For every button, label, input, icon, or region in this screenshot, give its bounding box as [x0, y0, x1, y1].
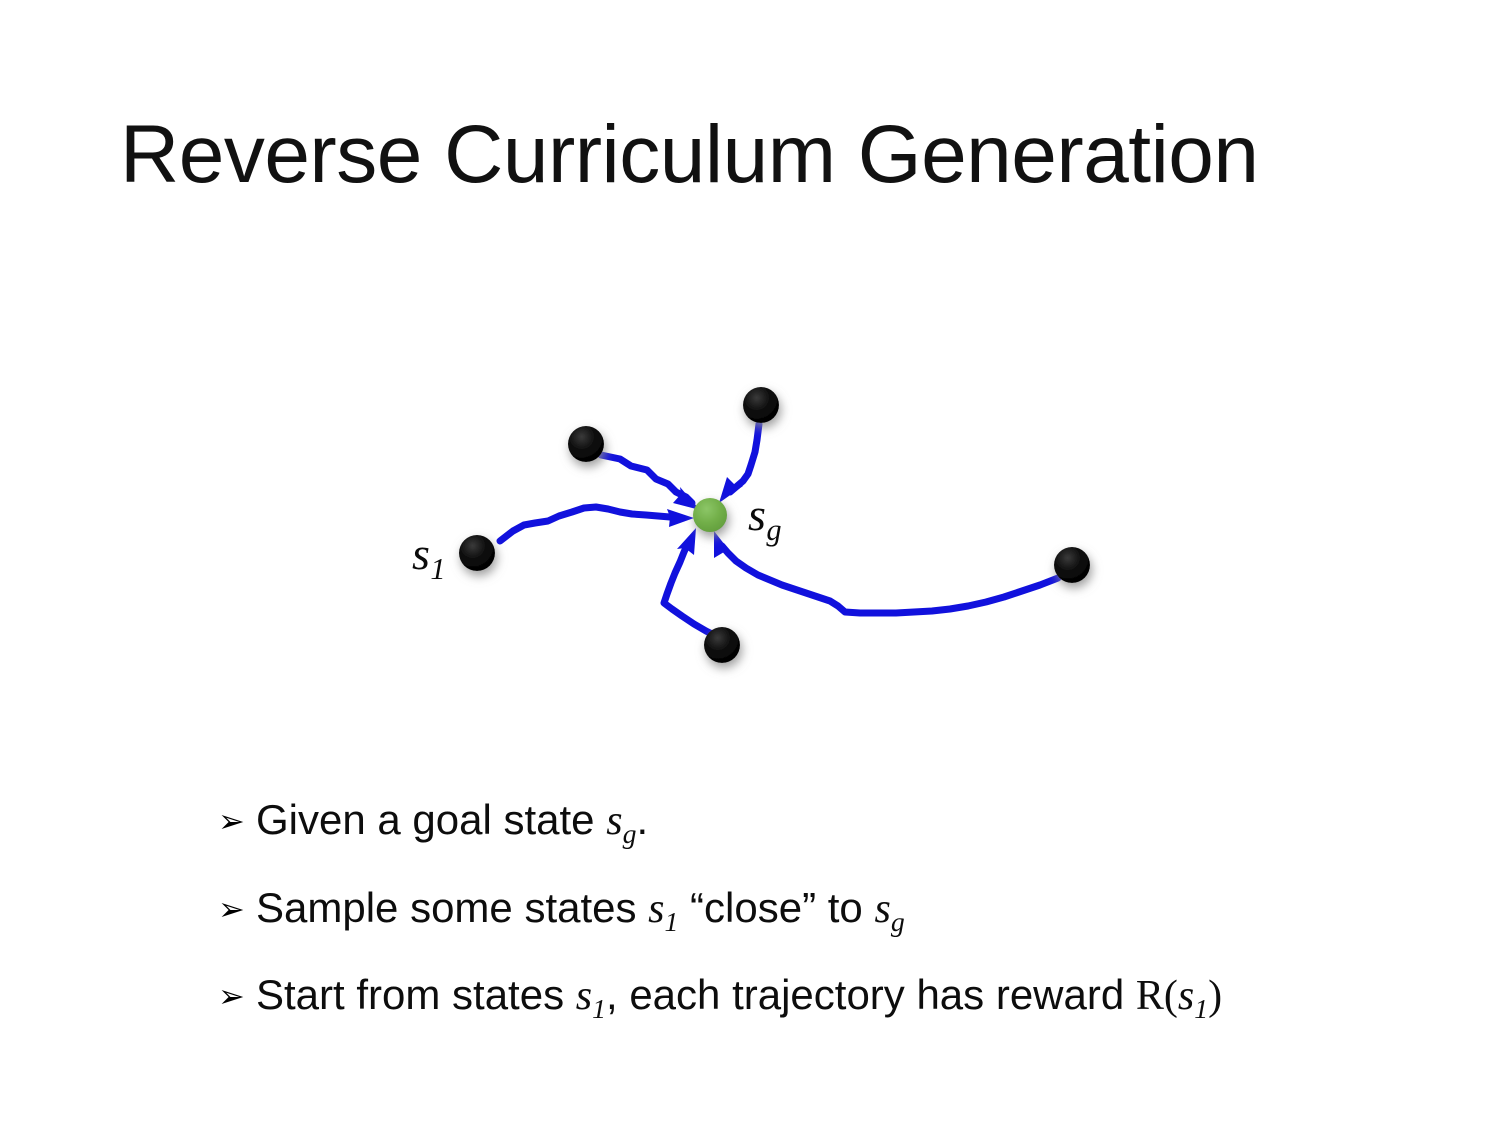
trajectory-path-bottom	[664, 543, 718, 637]
start-node-bottom	[704, 627, 740, 663]
bullet-start-from-states: ➢ Start from states s1, each trajectory …	[218, 970, 1448, 1026]
bullet-given-goal-state: ➢ Given a goal state sg.	[218, 795, 1448, 851]
trajectory-path-top	[730, 424, 759, 492]
trajectory-path-upper-left	[601, 455, 692, 503]
trajectory-arrowhead-s1	[667, 509, 694, 527]
bullet-sample-states: ➢ Sample some states s1 “close” to sg	[218, 883, 1448, 939]
page-title: Reverse Curriculum Generation	[120, 112, 1400, 198]
bullet-text: Sample some states s1 “close” to sg	[256, 883, 905, 939]
start-node-top	[743, 387, 779, 423]
start-node-s1-left	[459, 535, 495, 571]
start-node-right	[1054, 547, 1090, 583]
bullet-arrow-icon: ➢	[218, 893, 256, 925]
bullet-arrow-icon: ➢	[218, 805, 256, 837]
start-node-upper-left	[568, 426, 604, 462]
goal-state-label: sg	[748, 492, 782, 546]
slide-canvas: Reverse Curriculum Generation	[0, 0, 1500, 1125]
bullet-list: ➢ Given a goal state sg. ➢ Sample some s…	[218, 795, 1448, 1058]
trajectory-path-s1	[500, 507, 679, 541]
bullet-arrow-icon: ➢	[218, 980, 256, 1012]
bullet-text: Given a goal state sg.	[256, 795, 648, 851]
start-state-label: s1	[412, 531, 446, 585]
goal-node	[693, 498, 727, 532]
bullet-text: Start from states s1, each trajectory ha…	[256, 970, 1222, 1026]
trajectory-path-right	[722, 546, 1058, 613]
